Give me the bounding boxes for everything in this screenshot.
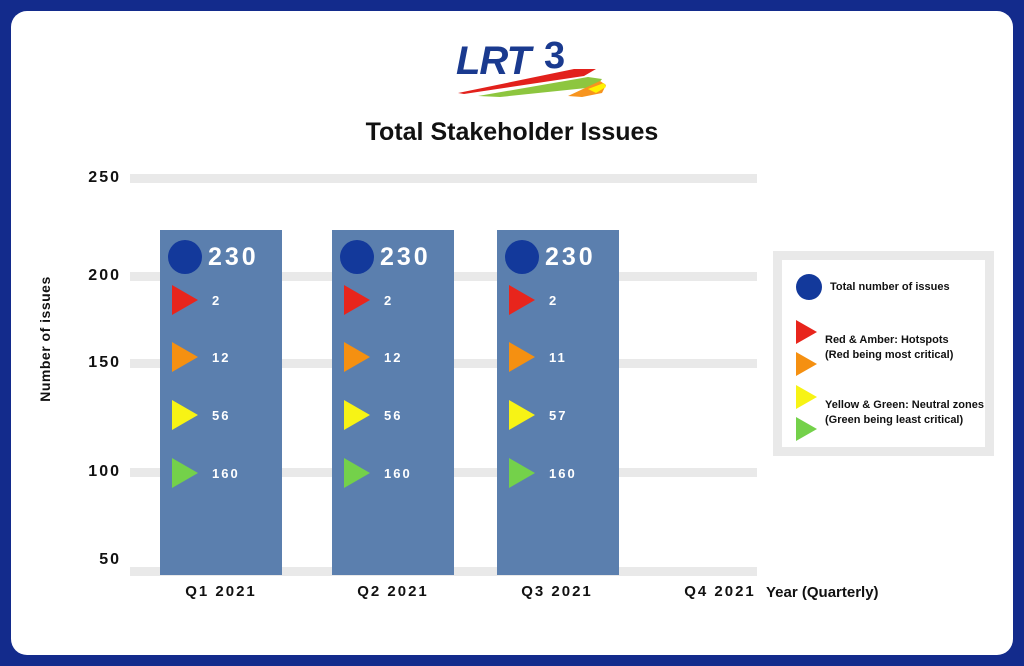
segment-red-q2: 2 xyxy=(344,285,454,315)
bar-total-q2: 230 xyxy=(340,240,431,274)
bar-total-value: 230 xyxy=(208,243,259,272)
total-circle-icon xyxy=(168,240,202,274)
legend-triangle-stack xyxy=(796,385,817,441)
bar-q2-2021[interactable]: 230 2 12 56 160 xyxy=(332,230,454,575)
plot-area: Number of issues 250 200 150 100 50 230 … xyxy=(11,11,1013,655)
triangle-green-icon xyxy=(344,458,370,488)
triangle-amber-icon xyxy=(796,352,817,376)
triangle-yellow-icon xyxy=(796,385,817,409)
triangle-red-icon xyxy=(172,285,198,315)
segment-red-q1: 2 xyxy=(172,285,282,315)
triangle-amber-icon xyxy=(509,342,535,372)
segment-yellow-q2: 56 xyxy=(344,400,454,430)
triangle-yellow-icon xyxy=(509,400,535,430)
y-axis-title: Number of issues xyxy=(37,249,53,429)
legend-label-line2: (Red being most critical) xyxy=(825,348,953,363)
bar-total-q1: 230 xyxy=(168,240,259,274)
triangle-red-icon xyxy=(344,285,370,315)
segment-value: 12 xyxy=(212,350,230,365)
triangle-yellow-icon xyxy=(172,400,198,430)
triangle-green-icon xyxy=(172,458,198,488)
bar-total-value: 230 xyxy=(380,243,431,272)
bar-q3-2021[interactable]: 230 2 11 57 160 xyxy=(497,230,619,575)
triangle-red-icon xyxy=(509,285,535,315)
segment-green-q1: 160 xyxy=(172,458,282,488)
chart-card: LRT 3 Total Stakeholder Issues Number of… xyxy=(11,11,1013,655)
segment-value: 56 xyxy=(384,408,402,423)
triangle-yellow-icon xyxy=(344,400,370,430)
segment-green-q2: 160 xyxy=(344,458,454,488)
segment-value: 2 xyxy=(384,293,393,308)
segment-value: 160 xyxy=(384,466,412,481)
y-tick-150: 150 xyxy=(61,354,121,372)
segment-amber-q3: 11 xyxy=(509,342,619,372)
legend-label-block: Red & Amber: Hotspots (Red being most cr… xyxy=(825,333,953,363)
triangle-green-icon xyxy=(796,417,817,441)
segment-value: 2 xyxy=(212,293,221,308)
segment-value: 56 xyxy=(212,408,230,423)
x-tick-q2-2021: Q2 2021 xyxy=(313,583,473,600)
segment-yellow-q3: 57 xyxy=(509,400,619,430)
segment-value: 57 xyxy=(549,408,567,423)
legend-label-line1: Yellow & Green: Neutral zones xyxy=(825,398,984,413)
legend-label-line2: (Green being least critical) xyxy=(825,413,984,428)
segment-yellow-q1: 56 xyxy=(172,400,282,430)
triangle-amber-icon xyxy=(344,342,370,372)
legend-entry-total: Total number of issues xyxy=(796,274,950,300)
y-tick-50: 50 xyxy=(61,551,121,569)
legend-circle-icon xyxy=(796,274,822,300)
triangle-green-icon xyxy=(509,458,535,488)
segment-value: 11 xyxy=(549,350,567,365)
segment-red-q3: 2 xyxy=(509,285,619,315)
y-tick-200: 200 xyxy=(61,267,121,285)
bar-total-value: 230 xyxy=(545,243,596,272)
triangle-red-icon xyxy=(796,320,817,344)
chart-legend: Total number of issues Red & Amber: Hots… xyxy=(773,251,994,456)
bar-q1-2021[interactable]: 230 2 12 56 160 xyxy=(160,230,282,575)
segment-amber-q1: 12 xyxy=(172,342,282,372)
legend-label-line1: Red & Amber: Hotspots xyxy=(825,333,953,348)
segment-value: 2 xyxy=(549,293,558,308)
legend-triangle-stack xyxy=(796,320,817,376)
x-tick-q3-2021: Q3 2021 xyxy=(477,583,637,600)
gridline-250 xyxy=(130,174,757,183)
segment-green-q3: 160 xyxy=(509,458,619,488)
x-axis-title: Year (Quarterly) xyxy=(766,584,879,601)
y-tick-250: 250 xyxy=(61,169,121,187)
total-circle-icon xyxy=(505,240,539,274)
bar-total-q3: 230 xyxy=(505,240,596,274)
legend-entry-hotspots: Red & Amber: Hotspots (Red being most cr… xyxy=(796,320,953,376)
legend-label: Total number of issues xyxy=(830,280,950,295)
x-tick-q1-2021: Q1 2021 xyxy=(141,583,301,600)
legend-label-block: Yellow & Green: Neutral zones (Green bei… xyxy=(825,398,984,428)
segment-amber-q2: 12 xyxy=(344,342,454,372)
segment-value: 160 xyxy=(549,466,577,481)
y-tick-100: 100 xyxy=(61,463,121,481)
legend-entry-neutral: Yellow & Green: Neutral zones (Green bei… xyxy=(796,385,984,441)
triangle-amber-icon xyxy=(172,342,198,372)
segment-value: 12 xyxy=(384,350,402,365)
segment-value: 160 xyxy=(212,466,240,481)
total-circle-icon xyxy=(340,240,374,274)
